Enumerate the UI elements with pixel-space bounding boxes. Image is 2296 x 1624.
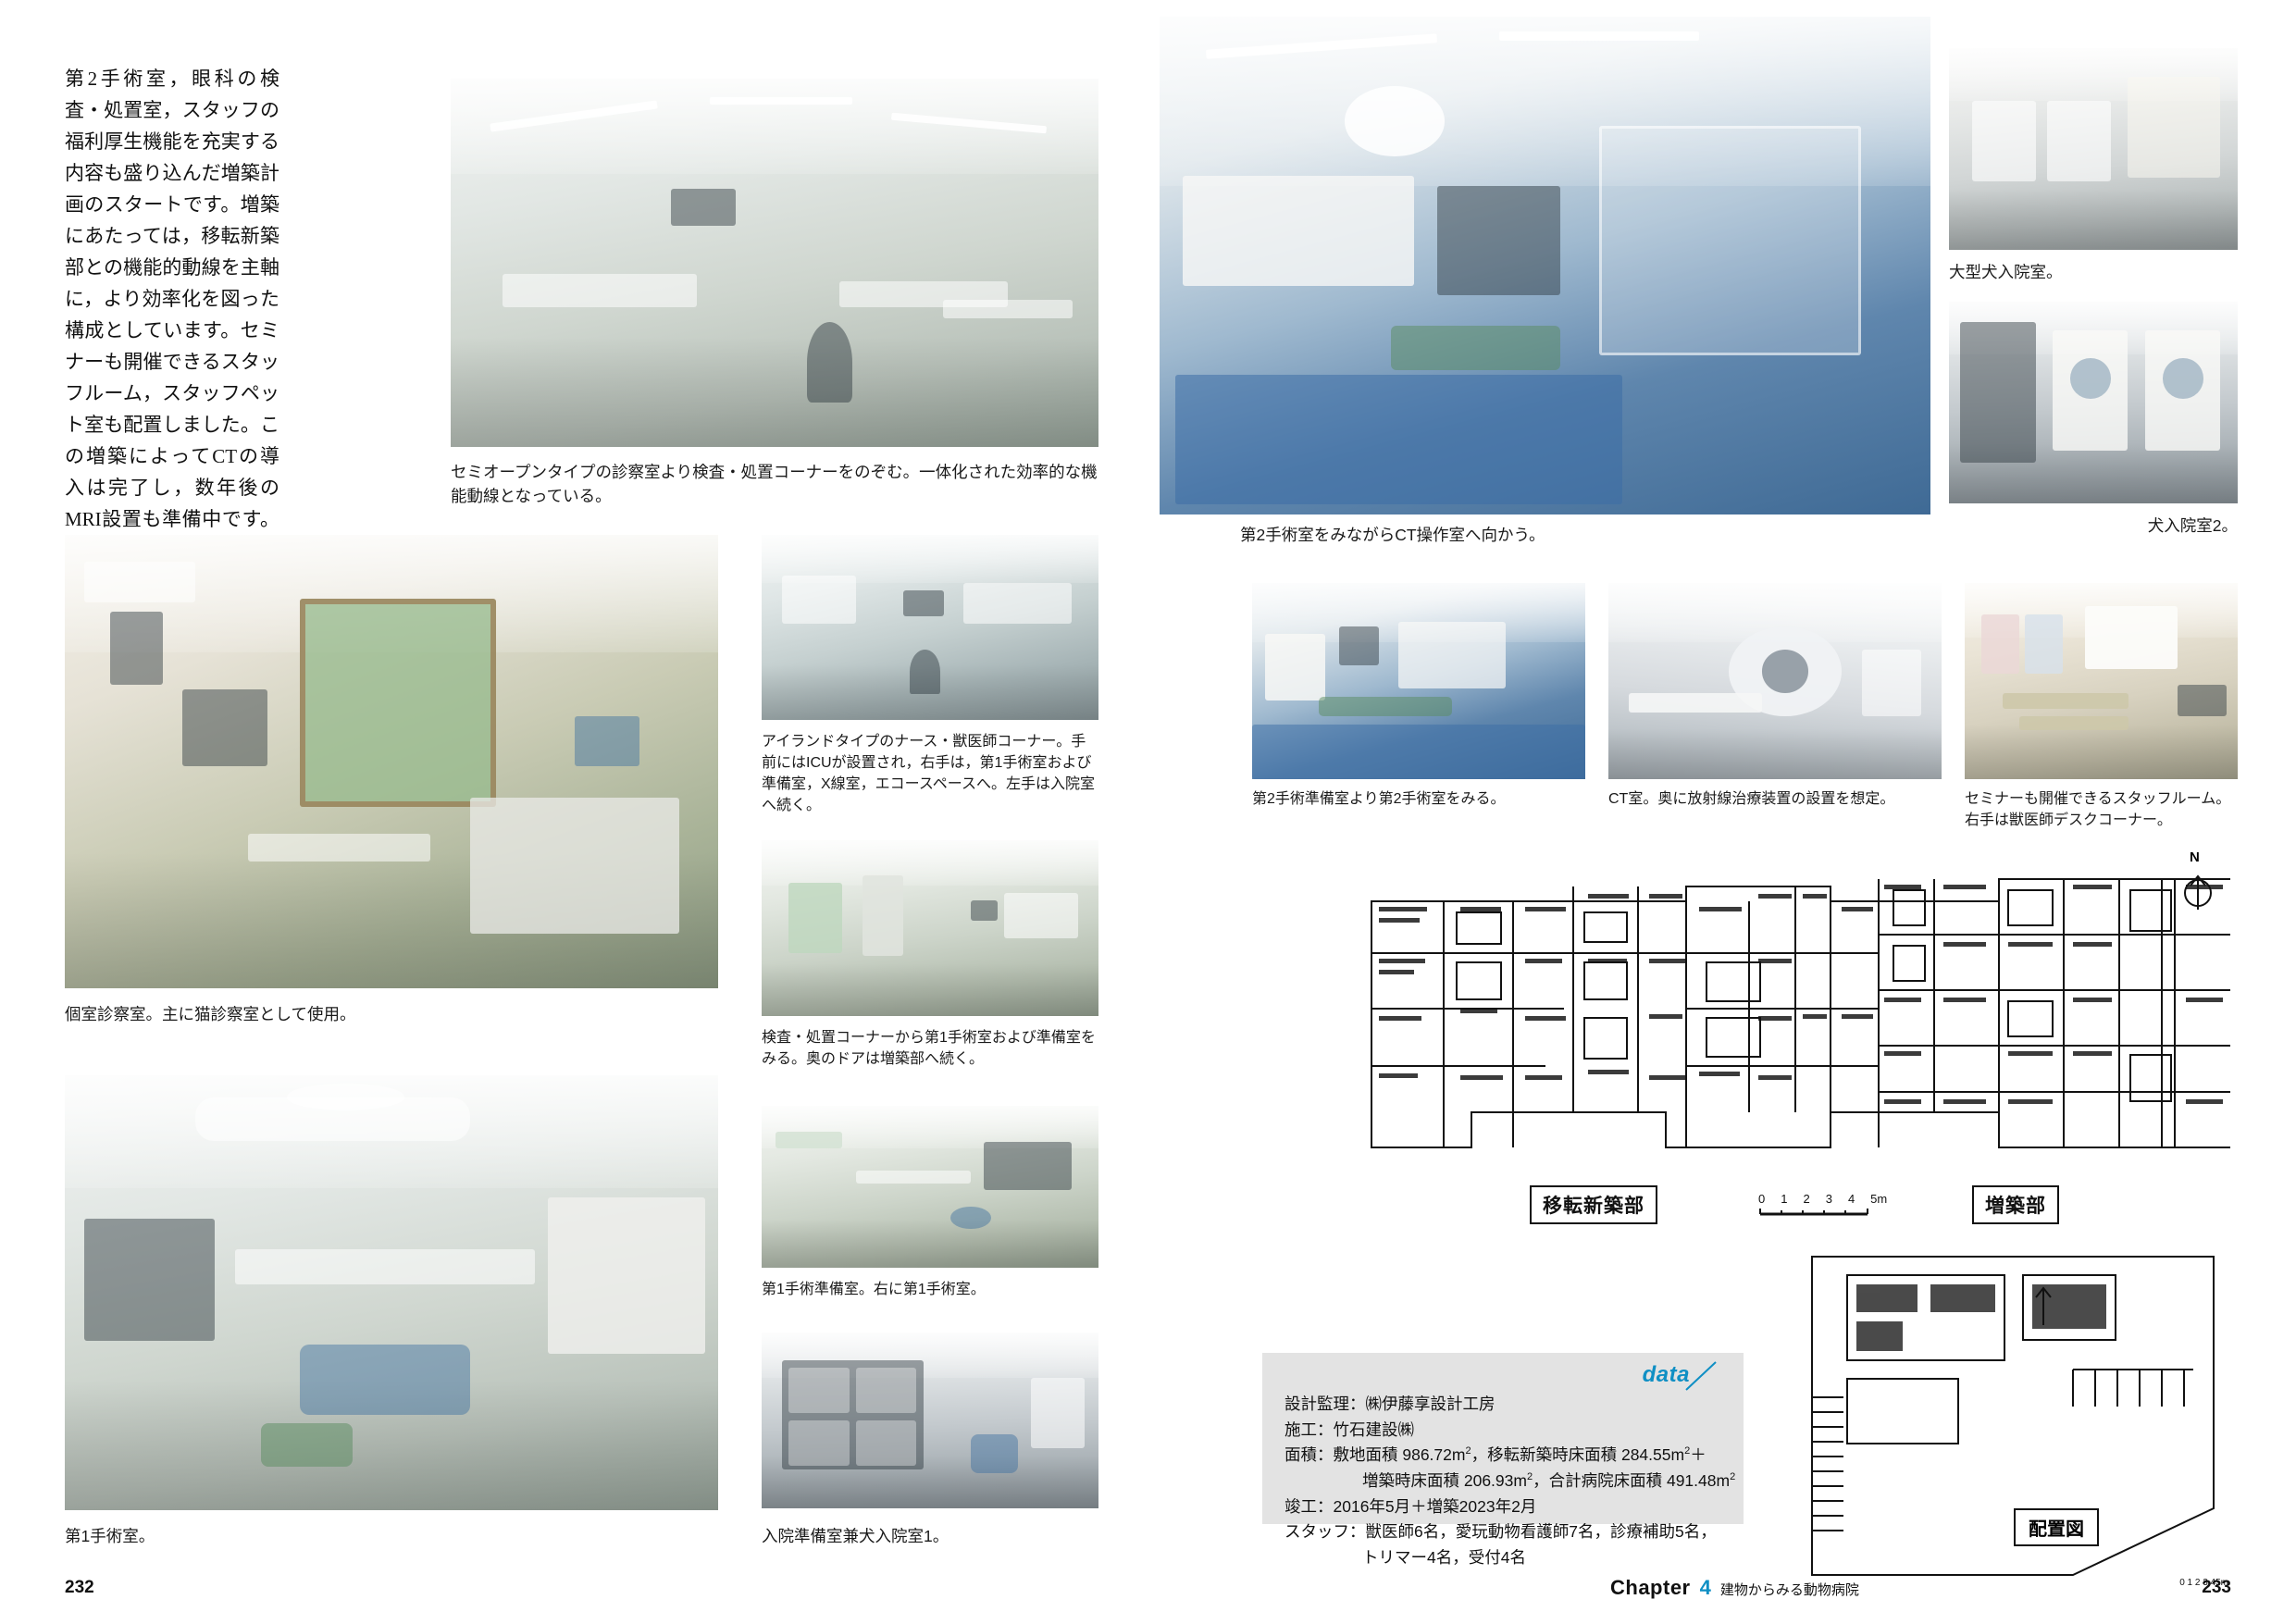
site-plan-svg: N [1795, 1231, 2230, 1592]
site-plan-label: 配置図 [2014, 1508, 2099, 1546]
floor-plan-label-new: 移転新築部 [1530, 1185, 1657, 1224]
scale-tick-4: 4 [1848, 1192, 1855, 1206]
caption-dog-ward-2: 犬入院室2。 [1949, 514, 2238, 539]
data-staff-value: 獣医師6名，愛玩動物看護師7名，診療補助5名， [1366, 1522, 1717, 1541]
caption-or1-prep: 第1手術準備室。右に第1手術室。 [762, 1279, 1098, 1300]
data-area-label: 面積： [1285, 1445, 1334, 1464]
data-area-new: ，移転新築時床面積 284.55m [1471, 1445, 1684, 1464]
photo-ct-room [1608, 583, 1942, 779]
floor-plan-svg [1360, 870, 2230, 1175]
data-area-total: ，合計病院床面積 491.48m [1533, 1471, 1730, 1490]
data-completion-value: 2016年5月＋増築2023年2月 [1334, 1497, 1537, 1516]
data-area-addition: 増築時床面積 206.93m [1362, 1471, 1527, 1490]
caption-or2-to-ct: 第2手術室をみながらCT操作室へ向かう。 [1240, 524, 1888, 548]
photo-private-exam [65, 535, 718, 988]
caption-or1: 第1手術室。 [65, 1525, 718, 1549]
data-completion-label: 竣工： [1285, 1497, 1334, 1516]
floor-plan-label-addition: 増築部 [1972, 1185, 2059, 1224]
caption-or2-prep-view: 第2手術準備室より第2手術室をみる。 [1252, 788, 1585, 810]
data-staff-label: スタッフ： [1285, 1522, 1366, 1541]
data-box-lines: 設計監理：㈱伊藤享設計工房 施工：竹石建設㈱ 面積：敷地面積 986.72m2，… [1285, 1392, 1729, 1570]
data-construction-label: 施工： [1285, 1420, 1334, 1439]
data-sup-4: 2 [1730, 1471, 1735, 1482]
caption-nurse-corner: アイランドタイプのナース・獣医師コーナー。手前にはICUが設置され，右手は，第1… [762, 731, 1098, 816]
footer-chapter-number: 4 [1700, 1576, 1711, 1600]
data-area-site: 敷地面積 986.72m [1334, 1445, 1466, 1464]
caption-ct-room: CT室。奥に放射線治療装置の設置を想定。 [1608, 788, 1942, 810]
photo-staff-room [1965, 583, 2238, 779]
caption-staff-room: セミナーも開催できるスタッフルーム。右手は獣医師デスクコーナー。 [1965, 788, 2238, 831]
scale-tick-3: 3 [1826, 1192, 1832, 1206]
data-box: data 設計監理：㈱伊藤享設計工房 施工：竹石建設㈱ 面積：敷地面積 986.… [1262, 1353, 1744, 1524]
data-box-slash-icon [1684, 1360, 1719, 1392]
scale-tick-5: 5m [1870, 1192, 1887, 1206]
floor-plan-north-label: N [2190, 849, 2200, 865]
data-design-label: 設計監理： [1285, 1395, 1366, 1413]
page-gutter [1148, 0, 1148, 1624]
footer-chapter-label: Chapter [1610, 1576, 1691, 1600]
photo-semi-open-exam [451, 79, 1098, 447]
photo-or2-prep-view [1252, 583, 1585, 779]
data-area-plus: ＋ [1690, 1445, 1706, 1464]
photo-or1 [65, 1075, 718, 1510]
footer-chapter-title: 建物からみる動物病院 [1720, 1580, 1859, 1599]
data-design-value: ㈱伊藤享設計工房 [1366, 1395, 1496, 1413]
photo-or2-to-ct [1160, 17, 1930, 514]
svg-text:N: N [2038, 1231, 2047, 1232]
photo-nurse-corner [762, 535, 1098, 720]
caption-semi-open-exam: セミオープンタイプの診察室より検査・処置コーナーをのぞむ。一体化された効率的な機… [451, 461, 1098, 508]
caption-private-exam: 個室診察室。主に猫診察室として使用。 [65, 1003, 718, 1027]
photo-or1-prep [762, 1106, 1098, 1268]
floor-plan-drawing: N [1360, 870, 2230, 1175]
data-staff-value-2: トリマー4名，受付4名 [1362, 1548, 1526, 1567]
data-box-tag: data [1643, 1362, 1690, 1388]
caption-exam-to-or: 検査・処置コーナーから第1手術室および準備室をみる。奥のドアは増築部へ続く。 [762, 1027, 1098, 1070]
floor-plan-scale: 0 1 2 3 4 5m [1758, 1192, 1887, 1222]
site-plan-drawing: N 配置図 0 1 2 3 45m [1795, 1231, 2230, 1592]
scale-tick-2: 2 [1803, 1192, 1809, 1206]
page-number-right: 233 [2202, 1578, 2231, 1598]
magazine-spread: 第2手術室，眼科の検査・処置室，スタッフの福利厚生機能を充実する内容も盛り込んだ… [0, 0, 2296, 1624]
photo-exam-to-or [762, 840, 1098, 1016]
caption-hospital-prep-dog1: 入院準備室兼犬入院室1。 [762, 1525, 1098, 1549]
page-number-left: 232 [65, 1578, 94, 1598]
data-construction-value: 竹石建設㈱ [1334, 1420, 1415, 1439]
scale-bar [1758, 1207, 1877, 1218]
footer-chapter: Chapter 4 建物からみる動物病院 [1610, 1576, 1859, 1600]
photo-hospital-prep-dog1 [762, 1333, 1098, 1508]
photo-dog-ward-2 [1949, 302, 2238, 503]
caption-large-dog-ward: 大型犬入院室。 [1949, 261, 2238, 285]
scale-tick-1: 1 [1781, 1192, 1787, 1206]
scale-tick-0: 0 [1758, 1192, 1765, 1206]
photo-large-dog-ward [1949, 48, 2238, 250]
